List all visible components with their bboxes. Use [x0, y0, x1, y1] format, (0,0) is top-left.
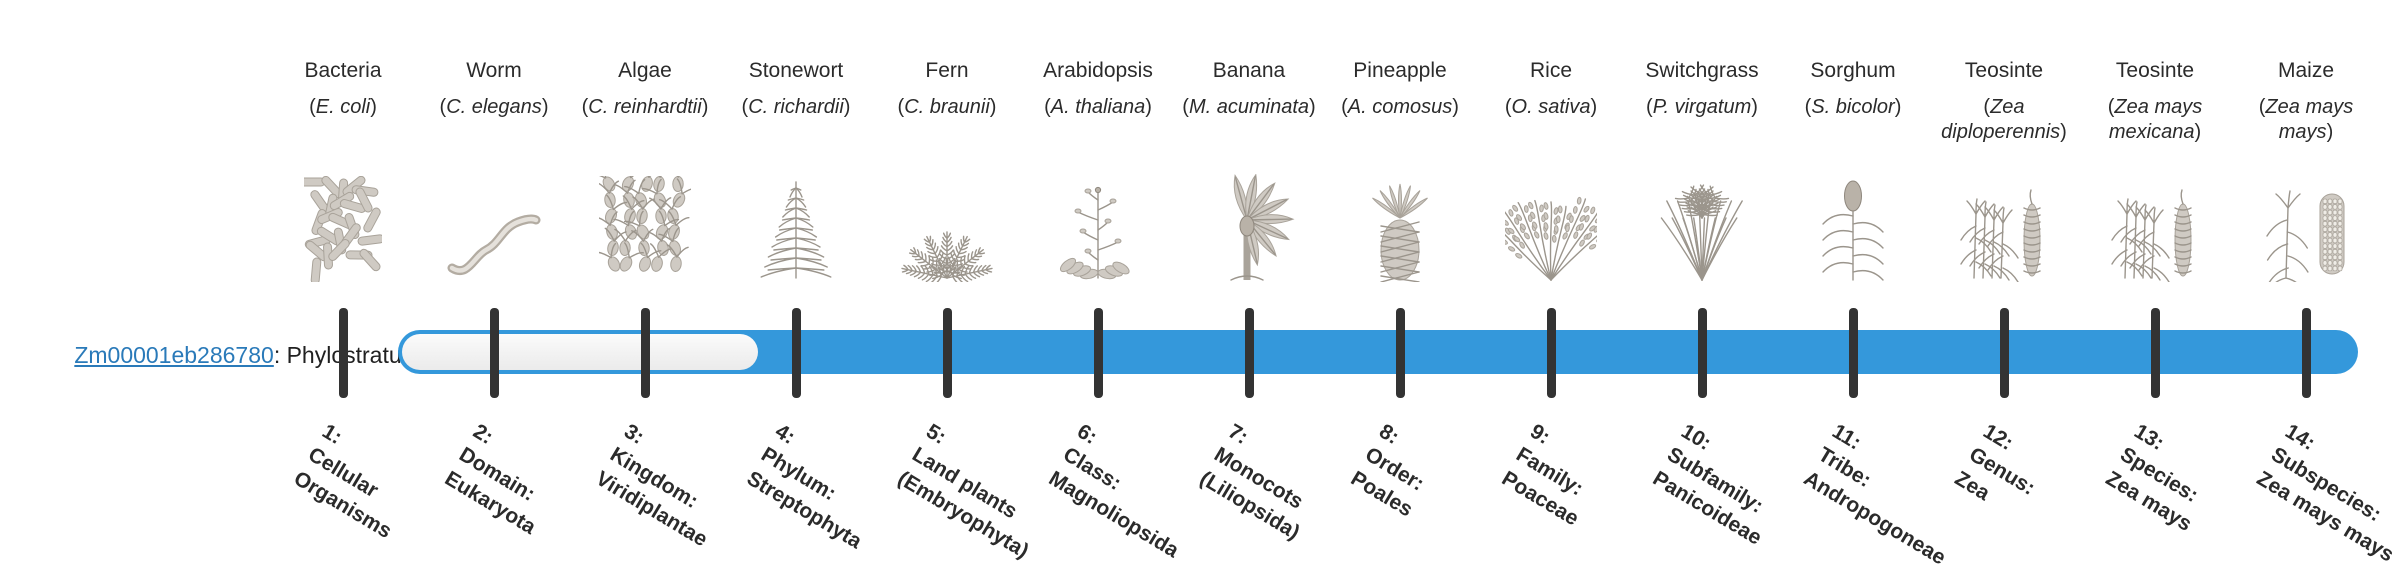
species-name-block: Teosinte(Zea mays mexicana)	[2080, 58, 2230, 144]
species-column: Banana(M. acuminata)7: Monocots (Liliops…	[1174, 0, 1324, 580]
species-name-block: Pineapple(A. comosus)	[1325, 58, 1475, 120]
species-scientific-name: (S. bicolor)	[1778, 95, 1928, 119]
phylostratum-tick[interactable]	[490, 308, 499, 398]
species-name-block: Stonewort(C. richardii)	[721, 58, 871, 120]
phylostratum-tick[interactable]	[2151, 308, 2160, 398]
organism-illustration-bacteria-rods	[268, 172, 418, 282]
species-common-name: Banana	[1174, 58, 1324, 84]
phylostratum-tick[interactable]	[1396, 308, 1405, 398]
species-common-name: Teosinte	[1929, 58, 2079, 84]
phylostratum-tick[interactable]	[943, 308, 952, 398]
species-common-name: Pineapple	[1325, 58, 1475, 84]
species-name-block: Teosinte(Zea diploperennis)	[1929, 58, 2079, 144]
organism-illustration-rice-plant	[1476, 172, 1626, 282]
species-scientific-name: (C. elegans)	[419, 95, 569, 119]
species-column: Switchgrass(P. virgatum)10: Subfamily: P…	[1627, 0, 1777, 580]
species-column: Teosinte(Zea diploperennis)12: Genus: Ze…	[1929, 0, 2079, 580]
species-common-name: Maize	[2231, 58, 2381, 84]
species-common-name: Worm	[419, 58, 569, 84]
phylostratum-tick[interactable]	[1849, 308, 1858, 398]
phylostratum-tick[interactable]	[792, 308, 801, 398]
species-name-block: Fern(C. braunii)	[872, 58, 1022, 120]
species-scientific-name: (O. sativa)	[1476, 95, 1626, 119]
species-name-block: Banana(M. acuminata)	[1174, 58, 1324, 120]
species-common-name: Teosinte	[2080, 58, 2230, 84]
organism-illustration-teosinte-plant-and-ear	[1929, 172, 2079, 282]
phylostratum-tick[interactable]	[2000, 308, 2009, 398]
species-column: Worm(C. elegans)2: Domain: Eukaryota	[419, 0, 569, 580]
species-column: Fern(C. braunii)5: Land plants (Embryoph…	[872, 0, 1022, 580]
species-scientific-name: (C. braunii)	[872, 95, 1022, 119]
organism-illustration-switchgrass-clump	[1627, 172, 1777, 282]
species-common-name: Stonewort	[721, 58, 871, 84]
phylostratum-tick[interactable]	[1245, 308, 1254, 398]
phylostratum-tick[interactable]	[1698, 308, 1707, 398]
phylostratum-tick[interactable]	[2302, 308, 2311, 398]
species-common-name: Arabidopsis	[1023, 58, 1173, 84]
species-name-block: Arabidopsis(A. thaliana)	[1023, 58, 1173, 120]
species-scientific-name: (Zea mays mays)	[2231, 95, 2381, 144]
species-name-block: Worm(C. elegans)	[419, 58, 569, 120]
organism-illustration-pineapple-fruit	[1325, 172, 1475, 282]
phylostratum-tick[interactable]	[339, 308, 348, 398]
phylostratum-tick[interactable]	[1547, 308, 1556, 398]
organism-illustration-fern-frond	[872, 172, 1022, 282]
species-name-block: Switchgrass(P. virgatum)	[1627, 58, 1777, 120]
species-scientific-name: (C. richardii)	[721, 95, 871, 119]
species-name-block: Maize(Zea mays mays)	[2231, 58, 2381, 144]
species-column: Arabidopsis(A. thaliana)6: Class: Magnol…	[1023, 0, 1173, 580]
species-scientific-name: (P. virgatum)	[1627, 95, 1777, 119]
species-column: Pineapple(A. comosus)8: Order: Poales	[1325, 0, 1475, 580]
species-common-name: Fern	[872, 58, 1022, 84]
species-scientific-name: (Zea mays mexicana)	[2080, 95, 2230, 144]
species-name-block: Rice(O. sativa)	[1476, 58, 1626, 120]
species-column: Teosinte(Zea mays mexicana)13: Species: …	[2080, 0, 2230, 580]
phylostratum-tick[interactable]	[641, 308, 650, 398]
species-name-block: Sorghum(S. bicolor)	[1778, 58, 1928, 120]
phylostratum-timeline: Zm00001eb286780: Phylostratum 4 Bacteria…	[0, 0, 2400, 580]
species-column: Stonewort(C. richardii)4: Phylum: Strept…	[721, 0, 871, 580]
species-scientific-name: (A. comosus)	[1325, 95, 1475, 119]
species-column: Algae(C. reinhardtii)3: Kingdom: Viridip…	[570, 0, 720, 580]
species-column: Sorghum(S. bicolor)11: Tribe: Andropogon…	[1778, 0, 1928, 580]
species-common-name: Switchgrass	[1627, 58, 1777, 84]
organism-illustration-arabidopsis-rosette	[1023, 172, 1173, 282]
species-common-name: Algae	[570, 58, 720, 84]
species-scientific-name: (E. coli)	[268, 95, 418, 119]
organism-illustration-sorghum-plant	[1778, 172, 1928, 282]
species-column: Maize(Zea mays mays)14: Subspecies: Zea …	[2231, 0, 2381, 580]
organism-illustration-green-algae-cells	[570, 172, 720, 282]
gene-id-link[interactable]: Zm00001eb286780	[74, 342, 274, 368]
organism-illustration-maize-plant-and-cob	[2231, 172, 2381, 282]
species-name-block: Algae(C. reinhardtii)	[570, 58, 720, 120]
species-common-name: Bacteria	[268, 58, 418, 84]
species-common-name: Rice	[1476, 58, 1626, 84]
species-scientific-name: (A. thaliana)	[1023, 95, 1173, 119]
organism-illustration-stonewort-plant	[721, 172, 871, 282]
species-column: Bacteria(E. coli)1: Cellular Organisms	[268, 0, 418, 580]
species-name-block: Bacteria(E. coli)	[268, 58, 418, 120]
organism-illustration-nematode-worm	[419, 172, 569, 282]
species-scientific-name: (Zea diploperennis)	[1929, 95, 2079, 144]
phylostratum-tick[interactable]	[1094, 308, 1103, 398]
taxonomy-rank-label: 14: Subspecies: Zea mays mays	[2252, 418, 2400, 580]
species-common-name: Sorghum	[1778, 58, 1928, 84]
species-scientific-name: (C. reinhardtii)	[570, 95, 720, 119]
organism-illustration-teosinte-plant-and-ear	[2080, 172, 2230, 282]
species-column: Rice(O. sativa)9: Family: Poaceae	[1476, 0, 1626, 580]
organism-illustration-banana-tree	[1174, 172, 1324, 282]
species-scientific-name: (M. acuminata)	[1174, 95, 1324, 119]
